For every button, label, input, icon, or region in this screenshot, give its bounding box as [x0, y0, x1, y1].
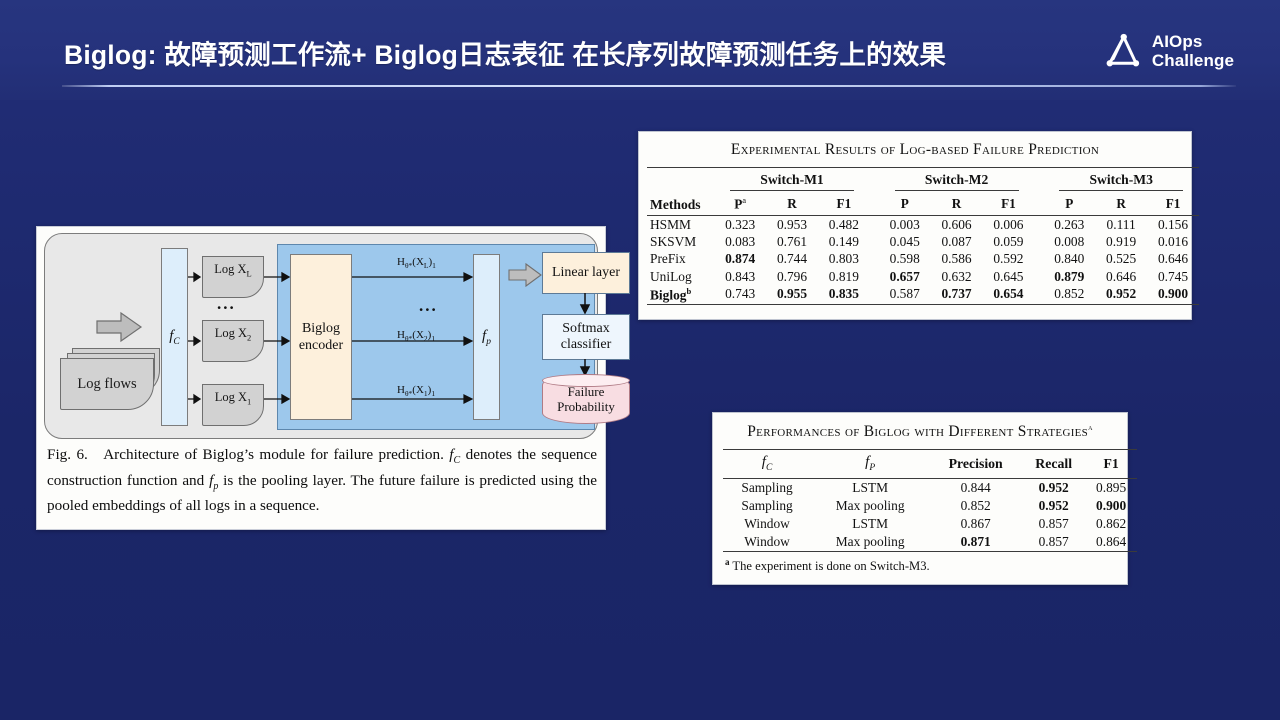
- table1-cell-value: 0.087: [931, 234, 983, 251]
- table2-cell-fp: Max pooling: [811, 533, 929, 552]
- table1-spacer: [870, 285, 879, 304]
- table1-col-m3-f1: F1: [1147, 193, 1199, 216]
- table1-cell-value: 0.919: [1095, 234, 1147, 251]
- table1-spacer: [1034, 285, 1043, 304]
- fc-to-logdocs-arrows-icon: [188, 254, 202, 404]
- table1-cell-value: 0.646: [1095, 268, 1147, 285]
- softmax-classifier-node: Softmax classifier: [542, 314, 630, 360]
- table1-spacer: [870, 216, 879, 234]
- table1-cell-method: UniLog: [647, 268, 714, 285]
- log-doc-X1-label: Log X: [215, 390, 247, 404]
- table1-cell-value: 0.606: [931, 216, 983, 234]
- log-flows-label: Log flows: [77, 376, 136, 393]
- table1-cell-value: 0.587: [879, 285, 931, 304]
- table1-cell-value: 0.840: [1043, 251, 1095, 268]
- table1-cell-value: 0.874: [714, 251, 766, 268]
- table1-cell-value: 0.761: [766, 234, 818, 251]
- table1-cell-value: 0.743: [714, 285, 766, 304]
- table1-bottom-rule: [647, 304, 1199, 305]
- table1-cell-value: 0.525: [1095, 251, 1147, 268]
- log-doc-X1: Log X1: [202, 384, 264, 426]
- table1-cell-value: 0.592: [982, 251, 1034, 268]
- table1-cell-method: SKSVM: [647, 234, 714, 251]
- aiops-triangle-node-icon: [1101, 30, 1143, 72]
- table1-cell-value: 0.006: [982, 216, 1034, 234]
- table2-col-fp: fP: [811, 450, 929, 479]
- table1-col-m2-f1: F1: [982, 193, 1034, 216]
- table1-cell-value: 0.008: [1043, 234, 1095, 251]
- table1-cell-method: Biglogb: [647, 285, 714, 304]
- log-doc-X2-label: Log X: [215, 326, 247, 340]
- table2-cell-f1: 0.900: [1085, 497, 1137, 515]
- figure-caption: Fig. 6. Architecture of Biglog’s module …: [47, 445, 597, 516]
- fp-label: fp: [482, 328, 491, 347]
- table1-cell-value: 0.645: [982, 268, 1034, 285]
- table1-cell-value: 0.263: [1043, 216, 1095, 234]
- slide-header: Biglog: 故障预测工作流+ Biglog日志表征 在长序列故障预测任务上的…: [0, 0, 1280, 100]
- table1-cell-value: 0.632: [931, 268, 983, 285]
- failure-probability-label: Failure Probability: [543, 384, 629, 414]
- table1-cell-value: 0.953: [766, 216, 818, 234]
- table2-cell-recall: 0.952: [1022, 479, 1085, 498]
- table2-cell-recall: 0.952: [1022, 497, 1085, 515]
- log-doc-X2: Log X2: [202, 320, 264, 362]
- log-doc-XL: Log XL: [202, 256, 264, 298]
- table1-group-switch-m2: Switch-M2: [879, 168, 1035, 194]
- failure-probability-cylinder-top: [542, 374, 630, 387]
- table1-cell-value: 0.156: [1147, 216, 1199, 234]
- table2-cell-f1: 0.862: [1085, 515, 1137, 533]
- table1-cell-value: 0.952: [1095, 285, 1147, 304]
- table1-col-m1-r: R: [766, 193, 818, 216]
- header-divider: [62, 85, 1236, 87]
- input-arrow-icon: [95, 310, 143, 344]
- table-strategies: fC fP Precision Recall F1 SamplingLSTM0.…: [723, 449, 1137, 552]
- table-row: SamplingMax pooling0.8520.9520.900: [723, 497, 1137, 515]
- table1-methods-header: Methods: [647, 168, 714, 216]
- table2-footnote: a The experiment is done on Switch-M3.: [713, 552, 1127, 574]
- logdocs-to-encoder-arrows-icon: [264, 254, 292, 404]
- table1-col-m3-p: P: [1043, 193, 1095, 216]
- figure-caption-part1: Architecture of Biglog’s module for fail…: [103, 446, 444, 463]
- table2-header-row: fC fP Precision Recall F1: [723, 450, 1137, 479]
- table2-title: Performances of Biglog with Different St…: [713, 413, 1127, 449]
- table1-cell-value: 0.796: [766, 268, 818, 285]
- table1-cell-method: PreFix: [647, 251, 714, 268]
- table2-cell-f1: 0.864: [1085, 533, 1137, 552]
- table1-cell-value: 0.843: [714, 268, 766, 285]
- table-strategies-card: Performances of Biglog with Different St…: [712, 412, 1128, 585]
- table1-col-m3-r: R: [1095, 193, 1147, 216]
- table1-spacer: [870, 234, 879, 251]
- figure-panel: Log flows fC Log XL ... Log X2 Log X1: [36, 226, 606, 530]
- table2-col-recall: Recall: [1022, 450, 1085, 479]
- table-row: HSMM0.3230.9530.4820.0030.6060.0060.2630…: [647, 216, 1199, 234]
- table1-cell-value: 0.900: [1147, 285, 1199, 304]
- linear-layer-node: Linear layer: [542, 252, 630, 294]
- table1-cell-value: 0.879: [1043, 268, 1095, 285]
- table2-cell-fp: LSTM: [811, 479, 929, 498]
- table1-spacer: [870, 268, 879, 285]
- table2-col-precision: Precision: [929, 450, 1022, 479]
- table1-cell-value: 0.745: [1147, 268, 1199, 285]
- table1-cell-value: 0.016: [1147, 234, 1199, 251]
- table2-cell-precision: 0.871: [929, 533, 1022, 552]
- table1-cell-value: 0.323: [714, 216, 766, 234]
- table2-cell-f1: 0.895: [1085, 479, 1137, 498]
- table1-cell-value: 0.149: [818, 234, 870, 251]
- table1-group-header-row: Methods Switch-M1 Switch-M2 Switch-M3: [647, 168, 1199, 194]
- log-doc-XL-label: Log X: [214, 262, 246, 276]
- table1-sub-header-row: Pa R F1 P R F1 P R F1: [647, 193, 1199, 216]
- table2-cell-recall: 0.857: [1022, 515, 1085, 533]
- table1-cell-value: 0.003: [879, 216, 931, 234]
- linear-to-softmax-arrow-icon: [578, 293, 592, 315]
- table1-cell-value: 0.482: [818, 216, 870, 234]
- table-experimental-results: Methods Switch-M1 Switch-M2 Switch-M3 Pa…: [647, 167, 1199, 305]
- fc-sequence-construction-node: fC: [161, 248, 188, 426]
- table1-col-m1-f1: F1: [818, 193, 870, 216]
- table1-cell-value: 0.654: [982, 285, 1034, 304]
- biglog-encoder-label: Biglog encoder: [291, 320, 351, 354]
- table1-cell-value: 0.586: [931, 251, 983, 268]
- encoder-to-fp-arrows-icon: [352, 254, 476, 404]
- figure-caption-number: Fig. 6.: [47, 446, 88, 463]
- table1-col-m2-p: P: [879, 193, 931, 216]
- table2-cell-precision: 0.844: [929, 479, 1022, 498]
- table1-spacer: [870, 251, 879, 268]
- table1-cell-value: 0.045: [879, 234, 931, 251]
- table2-cell-precision: 0.852: [929, 497, 1022, 515]
- table-experimental-results-card: Experimental Results of Log-based Failur…: [638, 131, 1192, 320]
- table1-cell-value: 0.646: [1147, 251, 1199, 268]
- table-row: UniLog0.8430.7960.8190.6570.6320.6450.87…: [647, 268, 1199, 285]
- table1-cell-value: 0.852: [1043, 285, 1095, 304]
- table2-cell-fp: Max pooling: [811, 497, 929, 515]
- table1-cell-value: 0.737: [931, 285, 983, 304]
- table2-cell-fc: Sampling: [723, 497, 811, 515]
- biglog-encoder-node: Biglog encoder: [290, 254, 352, 420]
- table1-spacer: [1034, 234, 1043, 251]
- table2-cell-fc: Sampling: [723, 479, 811, 498]
- table1-col-m2-r: R: [931, 193, 983, 216]
- ellipsis-left: ...: [217, 294, 236, 314]
- logo-line-1: AIOps: [1152, 32, 1234, 51]
- architecture-diagram: Log flows fC Log XL ... Log X2 Log X1: [44, 233, 598, 439]
- table2-cell-recall: 0.857: [1022, 533, 1085, 552]
- table1-title: Experimental Results of Log-based Failur…: [639, 132, 1191, 167]
- fc-label: fC: [169, 328, 180, 347]
- table1-cell-value: 0.835: [818, 285, 870, 304]
- table1-spacer: [1034, 268, 1043, 285]
- aiops-challenge-logo: AIOps Challenge: [1101, 30, 1234, 72]
- table2-cell-fc: Window: [723, 515, 811, 533]
- table1-spacer: [1034, 216, 1043, 234]
- logo-text: AIOps Challenge: [1152, 32, 1234, 70]
- table1-cell-value: 0.955: [766, 285, 818, 304]
- table1-cell-value: 0.803: [818, 251, 870, 268]
- table2-cell-precision: 0.867: [929, 515, 1022, 533]
- table-row: WindowMax pooling0.8710.8570.864: [723, 533, 1137, 552]
- table-row: WindowLSTM0.8670.8570.862: [723, 515, 1137, 533]
- table1-cell-value: 0.083: [714, 234, 766, 251]
- table1-cell-value: 0.598: [879, 251, 931, 268]
- softmax-classifier-label: Softmax classifier: [543, 321, 629, 353]
- table1-cell-value: 0.059: [982, 234, 1034, 251]
- table-row: PreFix0.8740.7440.8030.5980.5860.5920.84…: [647, 251, 1199, 268]
- pooling-output-arrow-icon: [508, 262, 542, 288]
- linear-layer-label: Linear layer: [552, 265, 620, 281]
- table2-col-fc: fC: [723, 450, 811, 479]
- table-row: Biglogb0.7430.9550.8350.5870.7370.6540.8…: [647, 285, 1199, 304]
- table1-cell-value: 0.819: [818, 268, 870, 285]
- log-flows-node: Log flows: [60, 358, 154, 410]
- table1-group-switch-m3: Switch-M3: [1043, 168, 1199, 194]
- table1-cell-value: 0.111: [1095, 216, 1147, 234]
- table2-col-f1: F1: [1085, 450, 1137, 479]
- table1-spacer: [1034, 251, 1043, 268]
- slide-canvas: Biglog: 故障预测工作流+ Biglog日志表征 在长序列故障预测任务上的…: [0, 0, 1280, 720]
- table1-cell-value: 0.744: [766, 251, 818, 268]
- table1-cell-value: 0.657: [879, 268, 931, 285]
- table1-cell-method: HSMM: [647, 216, 714, 234]
- table2-cell-fc: Window: [723, 533, 811, 552]
- table2-cell-fp: LSTM: [811, 515, 929, 533]
- table1-group-switch-m1: Switch-M1: [714, 168, 870, 194]
- table-row: SamplingLSTM0.8440.9520.895: [723, 479, 1137, 498]
- fp-pooling-node: fp: [473, 254, 500, 420]
- table1-col-m1-p: Pa: [714, 193, 766, 216]
- page-title: Biglog: 故障预测工作流+ Biglog日志表征 在长序列故障预测任务上的…: [64, 33, 946, 72]
- logo-line-2: Challenge: [1152, 51, 1234, 70]
- table-row: SKSVM0.0830.7610.1490.0450.0870.0590.008…: [647, 234, 1199, 251]
